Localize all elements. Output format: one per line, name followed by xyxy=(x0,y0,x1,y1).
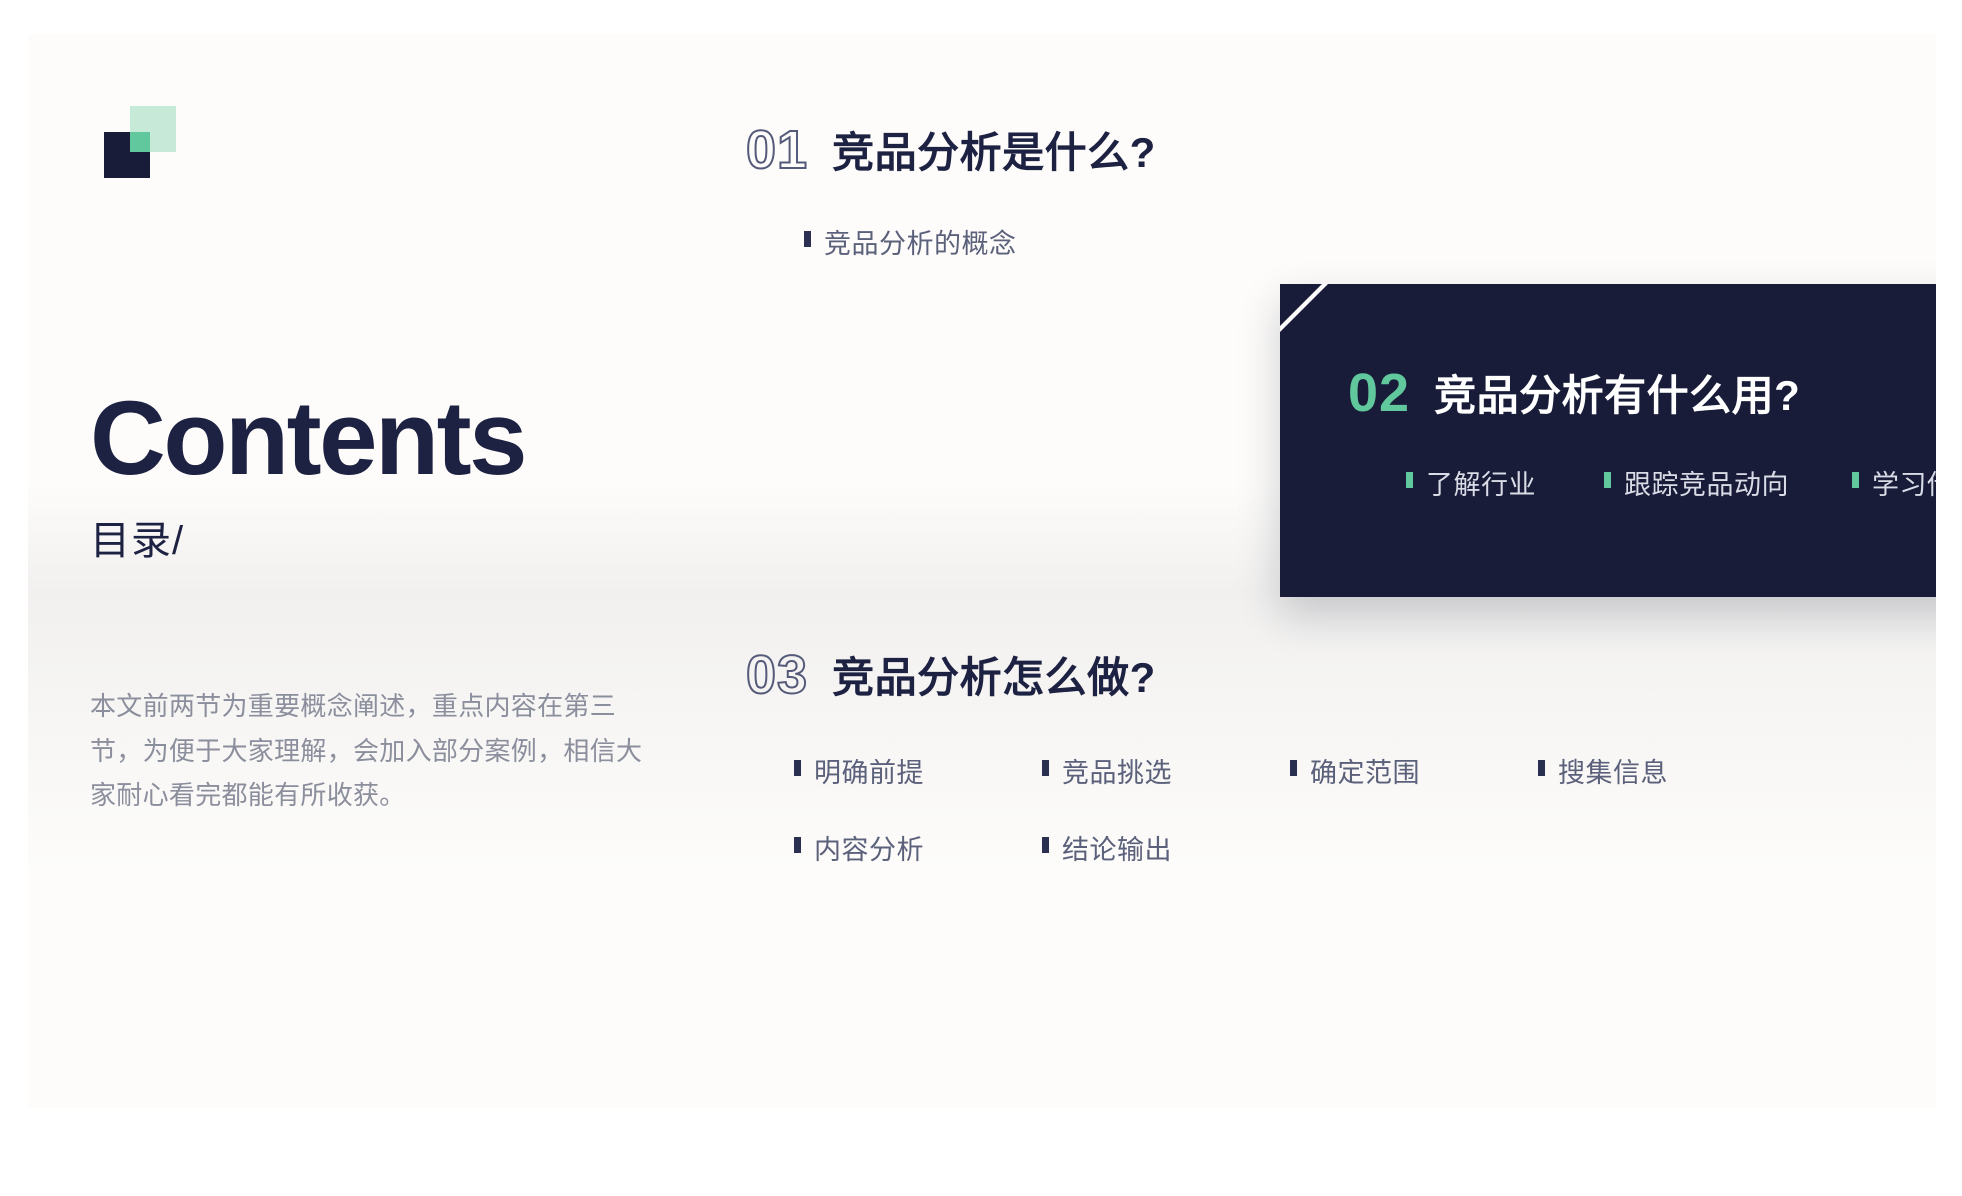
section-03-bullets: 明确前提 竞品挑选 确定范围 搜集信息 内容分析 xyxy=(794,751,1936,867)
bullet-dot-icon xyxy=(1042,837,1049,853)
page-title: Contents xyxy=(90,384,525,494)
slide-canvas: Contents 目录/ 本文前两节为重要概念阐述，重点内容在第三节，为便于大家… xyxy=(28,34,1936,1108)
left-column: Contents 目录/ 本文前两节为重要概念阐述，重点内容在第三节，为便于大家… xyxy=(90,34,730,1108)
right-column: 01 竞品分析是什么? 竞品分析的概念 02 竞品分析有什么用? xyxy=(668,34,1936,1108)
list-item-label: 竞品挑选 xyxy=(1062,751,1172,790)
list-item[interactable]: 竞品分析的概念 xyxy=(804,222,1052,261)
section-02-bullets: 了解行业 跟踪竞品动向 学习借鉴 决策支持 xyxy=(1406,463,1936,540)
list-item[interactable]: 搜集信息 xyxy=(1538,751,1786,828)
list-item-label: 了解行业 xyxy=(1426,463,1536,502)
list-item[interactable]: 确定范围 xyxy=(1290,751,1538,790)
list-item[interactable]: 跟踪竞品动向 xyxy=(1604,463,1852,502)
list-item-label: 内容分析 xyxy=(814,828,924,867)
list-item[interactable]: 竞品挑选 xyxy=(1042,751,1290,790)
bullet-dot-icon xyxy=(1604,472,1611,488)
intro-paragraph: 本文前两节为重要概念阐述，重点内容在第三节，为便于大家理解，会加入部分案例，相信… xyxy=(90,684,660,818)
bullet-dot-icon xyxy=(1406,472,1413,488)
section-01-title: 竞品分析是什么? xyxy=(832,119,1156,180)
list-item-label: 跟踪竞品动向 xyxy=(1624,463,1789,502)
bullet-dot-icon xyxy=(794,760,801,776)
list-item-label: 确定范围 xyxy=(1310,751,1420,790)
list-item[interactable]: 内容分析 xyxy=(794,828,1042,867)
panel-corner-notch-icon xyxy=(1280,284,1328,332)
bullet-dot-icon xyxy=(1538,760,1545,776)
section-01-header: 01 竞品分析是什么? xyxy=(746,119,1156,180)
page-subtitle: 目录/ xyxy=(90,508,525,566)
section-03[interactable]: 03 竞品分析怎么做? 明确前提 竞品挑选 确定范围 搜集信息 xyxy=(746,644,1936,867)
section-01-number: 01 xyxy=(746,123,808,177)
list-item-label: 竞品分析的概念 xyxy=(824,222,1017,261)
list-item[interactable]: 了解行业 xyxy=(1406,463,1604,502)
section-02-title: 竞品分析有什么用? xyxy=(1434,362,1800,423)
list-item[interactable]: 明确前提 xyxy=(794,751,1042,790)
bullet-dot-icon xyxy=(1290,760,1297,776)
title-block: Contents 目录/ xyxy=(90,384,525,566)
bullet-dot-icon xyxy=(794,837,801,853)
section-01-bullets: 竞品分析的概念 xyxy=(804,222,1156,261)
list-item-label: 结论输出 xyxy=(1062,828,1172,867)
list-item-label: 明确前提 xyxy=(814,751,924,790)
section-02: 02 竞品分析有什么用? 了解行业 跟踪竞品动向 学习借鉴 xyxy=(1348,362,1936,540)
section-02-number: 02 xyxy=(1348,366,1410,420)
section-03-number: 03 xyxy=(746,648,808,702)
list-item-label: 学习借鉴 xyxy=(1872,463,1936,502)
list-item-label: 搜集信息 xyxy=(1558,751,1668,790)
bullet-dot-icon xyxy=(804,231,811,247)
section-03-header: 03 竞品分析怎么做? xyxy=(746,644,1936,705)
section-01[interactable]: 01 竞品分析是什么? 竞品分析的概念 xyxy=(746,119,1156,261)
section-02-header: 02 竞品分析有什么用? xyxy=(1348,362,1936,423)
bullet-dot-icon xyxy=(1042,760,1049,776)
list-item[interactable]: 结论输出 xyxy=(1042,828,1290,867)
list-item[interactable]: 学习借鉴 xyxy=(1852,463,1936,502)
bullet-dot-icon xyxy=(1852,472,1859,488)
section-03-title: 竞品分析怎么做? xyxy=(832,644,1156,705)
section-02-panel[interactable]: 02 竞品分析有什么用? 了解行业 跟踪竞品动向 学习借鉴 xyxy=(1280,284,1936,597)
